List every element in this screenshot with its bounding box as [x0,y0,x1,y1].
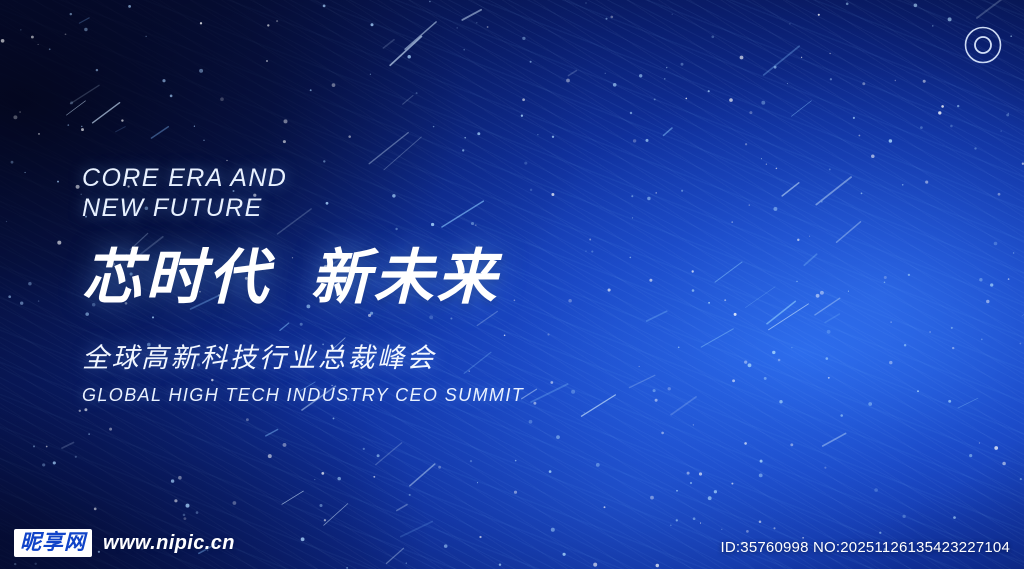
watermark: 昵享网 www.nipic.cn [14,529,235,557]
subtitle-english: GLOBAL HIGH TECH INDUSTRY CEO SUMMIT [82,384,702,406]
page-title: 芯时代 新未来 [82,245,702,311]
concentric-circles-icon [960,22,1006,68]
poster-text-block: CORE ERA AND NEW FUTURE 芯时代 新未来 全球高新科技行业… [82,163,702,406]
poster-canvas: CORE ERA AND NEW FUTURE 芯时代 新未来 全球高新科技行业… [0,0,1024,569]
site-logo: 昵享网 [14,529,92,557]
eyebrow-text: CORE ERA AND NEW FUTURE [82,163,702,223]
asset-id-code: ID:35760998 NO:20251126135423227104 [721,538,1010,557]
site-url: www.nipic.cn [103,532,235,554]
subtitle-chinese: 全球高新科技行业总裁峰会 [82,341,702,375]
